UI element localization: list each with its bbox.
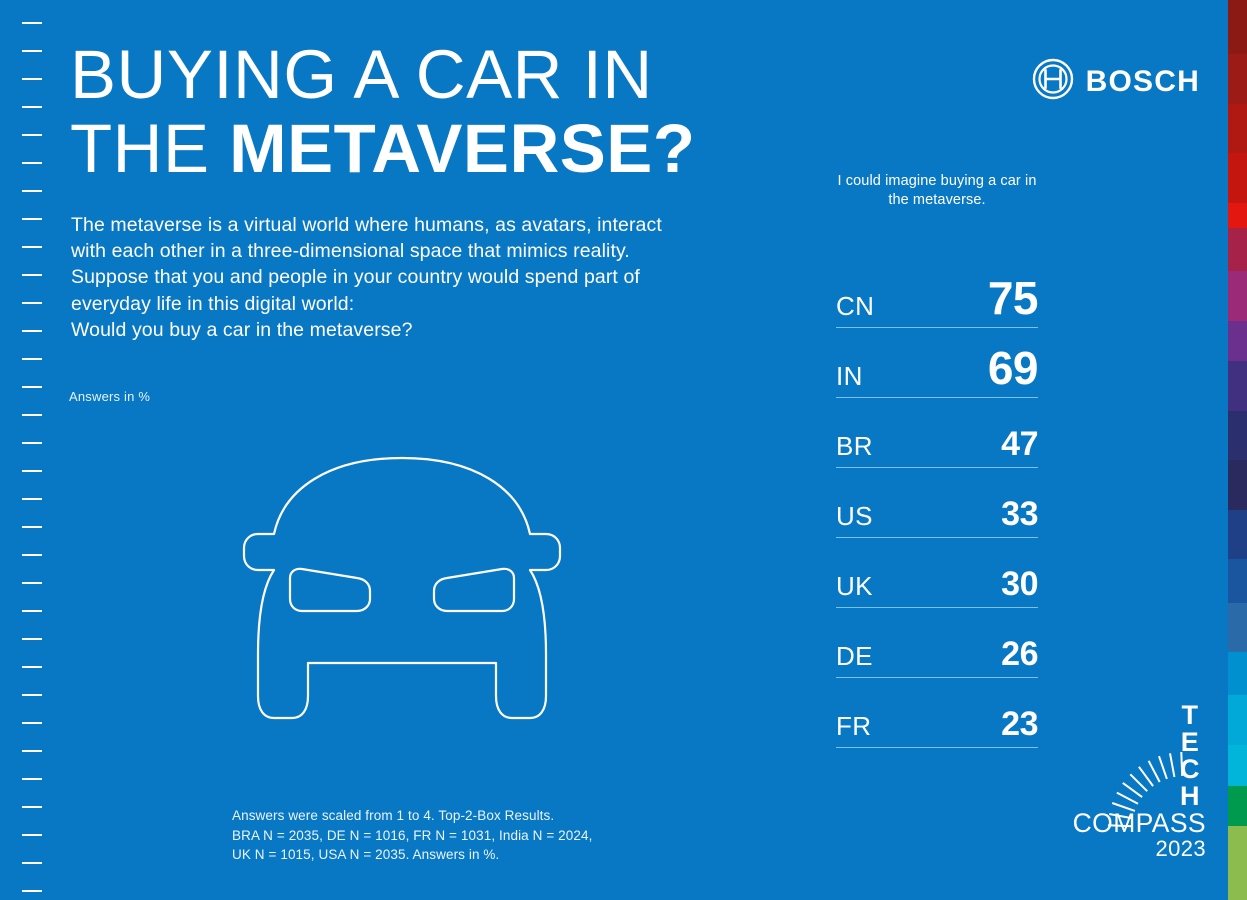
scale-tick [22,330,42,332]
compass-ray [1123,783,1142,797]
compass-ray [1130,774,1147,791]
title-line-2-bold: METAVERSE? [229,110,695,187]
bosch-logo: BOSCH [1032,58,1200,105]
color-bar-segment [1228,652,1247,695]
ranking-row: CN75 [836,258,1038,328]
color-bar-segment [1228,826,1247,900]
scale-tick [22,834,42,836]
footnote: Answers were scaled from 1 to 4. Top-2-B… [232,806,592,865]
country-value: 30 [1001,567,1038,607]
color-bar-segment [1228,603,1247,653]
color-bar-segment [1228,104,1247,154]
scale-tick [22,218,42,220]
scale-tick [22,470,42,472]
compass-ray [1170,753,1174,777]
compass-ray [1139,767,1153,786]
infographic-page: BUYING A CAR IN THE METAVERSE? The metav… [0,0,1247,900]
ranking-row: IN69 [836,328,1038,398]
compass-scale-ticks-icon [0,0,60,900]
intro-text: The metaverse is a virtual world where h… [71,212,671,343]
color-bar-segment [1228,271,1247,321]
ranking-row: US33 [836,468,1038,538]
answers-unit-note: Answers in % [69,389,150,404]
ranking-panel: I could imagine buying a car in the meta… [836,172,1038,748]
footnote-line-3: UK N = 1015, USA N = 2035. Answers in %. [232,845,592,865]
scale-tick [22,358,42,360]
bosch-armature-icon [1032,58,1074,105]
color-bar-segment [1228,361,1247,411]
scale-tick [22,666,42,668]
scale-tick [22,162,42,164]
intro-paragraph-3: Would you buy a car in the metaverse? [71,317,671,343]
color-bar-segment [1228,745,1247,786]
color-bar-segment [1228,0,1247,54]
ranking-rows: CN75IN69BR47US33UK30DE26FR23 [836,258,1038,748]
compass-ray [1149,761,1160,782]
scale-tick [22,722,42,724]
footnote-line-1: Answers were scaled from 1 to 4. Top-2-B… [232,806,592,826]
title-line-2: THE METAVERSE? [70,112,830,186]
color-bar-segment [1228,54,1247,104]
ranking-row: DE26 [836,608,1038,678]
scale-tick [22,78,42,80]
ranking-row: BR47 [836,398,1038,468]
scale-tick [22,638,42,640]
country-value: 23 [1001,707,1038,747]
country-code: FR [836,713,871,747]
scale-tick [22,134,42,136]
bosch-wordmark: BOSCH [1086,65,1200,99]
tech-letter: C [1180,756,1200,783]
scale-tick [22,22,42,24]
country-value: 26 [1001,637,1038,677]
title-line-1: BUYING A CAR IN [70,38,830,112]
car-front-outline-icon [212,448,592,753]
color-bar-segment [1228,460,1247,510]
tech-compass-logo: TECH COMPASS 2023 [1056,700,1206,870]
title-line-2-light: THE [70,110,229,187]
scale-tick [22,890,42,892]
scale-tick [22,750,42,752]
color-bar-segment [1228,228,1247,271]
country-code: UK [836,573,873,607]
country-value: 75 [988,275,1038,327]
color-bar-segment [1228,411,1247,461]
compass-year: 2023 [1056,836,1206,862]
compass-ray [1117,793,1138,804]
ranking-caption: I could imagine buying a car in the meta… [836,172,1038,210]
scale-tick [22,694,42,696]
color-bar-segment [1228,203,1247,228]
tech-letter: E [1180,729,1200,756]
page-title: BUYING A CAR IN THE METAVERSE? [70,38,830,186]
color-bar-segment [1228,786,1247,827]
country-value: 33 [1001,497,1038,537]
ranking-row: FR23 [836,678,1038,748]
scale-tick [22,610,42,612]
scale-tick [22,302,42,304]
color-bar-segment [1228,559,1247,602]
scale-tick [22,246,42,248]
tech-letter: H [1180,783,1200,810]
country-code: DE [836,643,873,677]
scale-tick [22,386,42,388]
scale-tick [22,50,42,52]
footnote-line-2: BRA N = 2035, DE N = 1016, FR N = 1031, … [232,826,592,846]
scale-tick [22,414,42,416]
country-value: 69 [988,345,1038,397]
country-code: BR [836,433,873,467]
intro-paragraph-1: The metaverse is a virtual world where h… [71,212,671,264]
intro-paragraph-2: Suppose that you and people in your coun… [71,264,671,316]
scale-tick [22,526,42,528]
country-code: IN [836,363,863,397]
country-value: 47 [1001,427,1038,467]
scale-tick [22,806,42,808]
scale-tick [22,190,42,192]
tech-letter: T [1180,702,1200,729]
color-bar-segment [1228,510,1247,560]
tech-letters: TECH [1180,702,1200,810]
scale-tick [22,554,42,556]
color-bar-segment [1228,321,1247,362]
scale-tick [22,274,42,276]
ranking-row: UK30 [836,538,1038,608]
country-code: US [836,503,873,537]
compass-ray [1159,756,1167,779]
scale-tick [22,106,42,108]
brand-color-bar [1228,0,1247,900]
scale-tick [22,582,42,584]
scale-tick [22,862,42,864]
scale-tick [22,498,42,500]
color-bar-segment [1228,153,1247,203]
scale-tick [22,778,42,780]
color-bar-segment [1228,695,1247,745]
scale-tick [22,442,42,444]
country-code: CN [836,293,874,327]
compass-label: COMPASS [1056,808,1206,839]
